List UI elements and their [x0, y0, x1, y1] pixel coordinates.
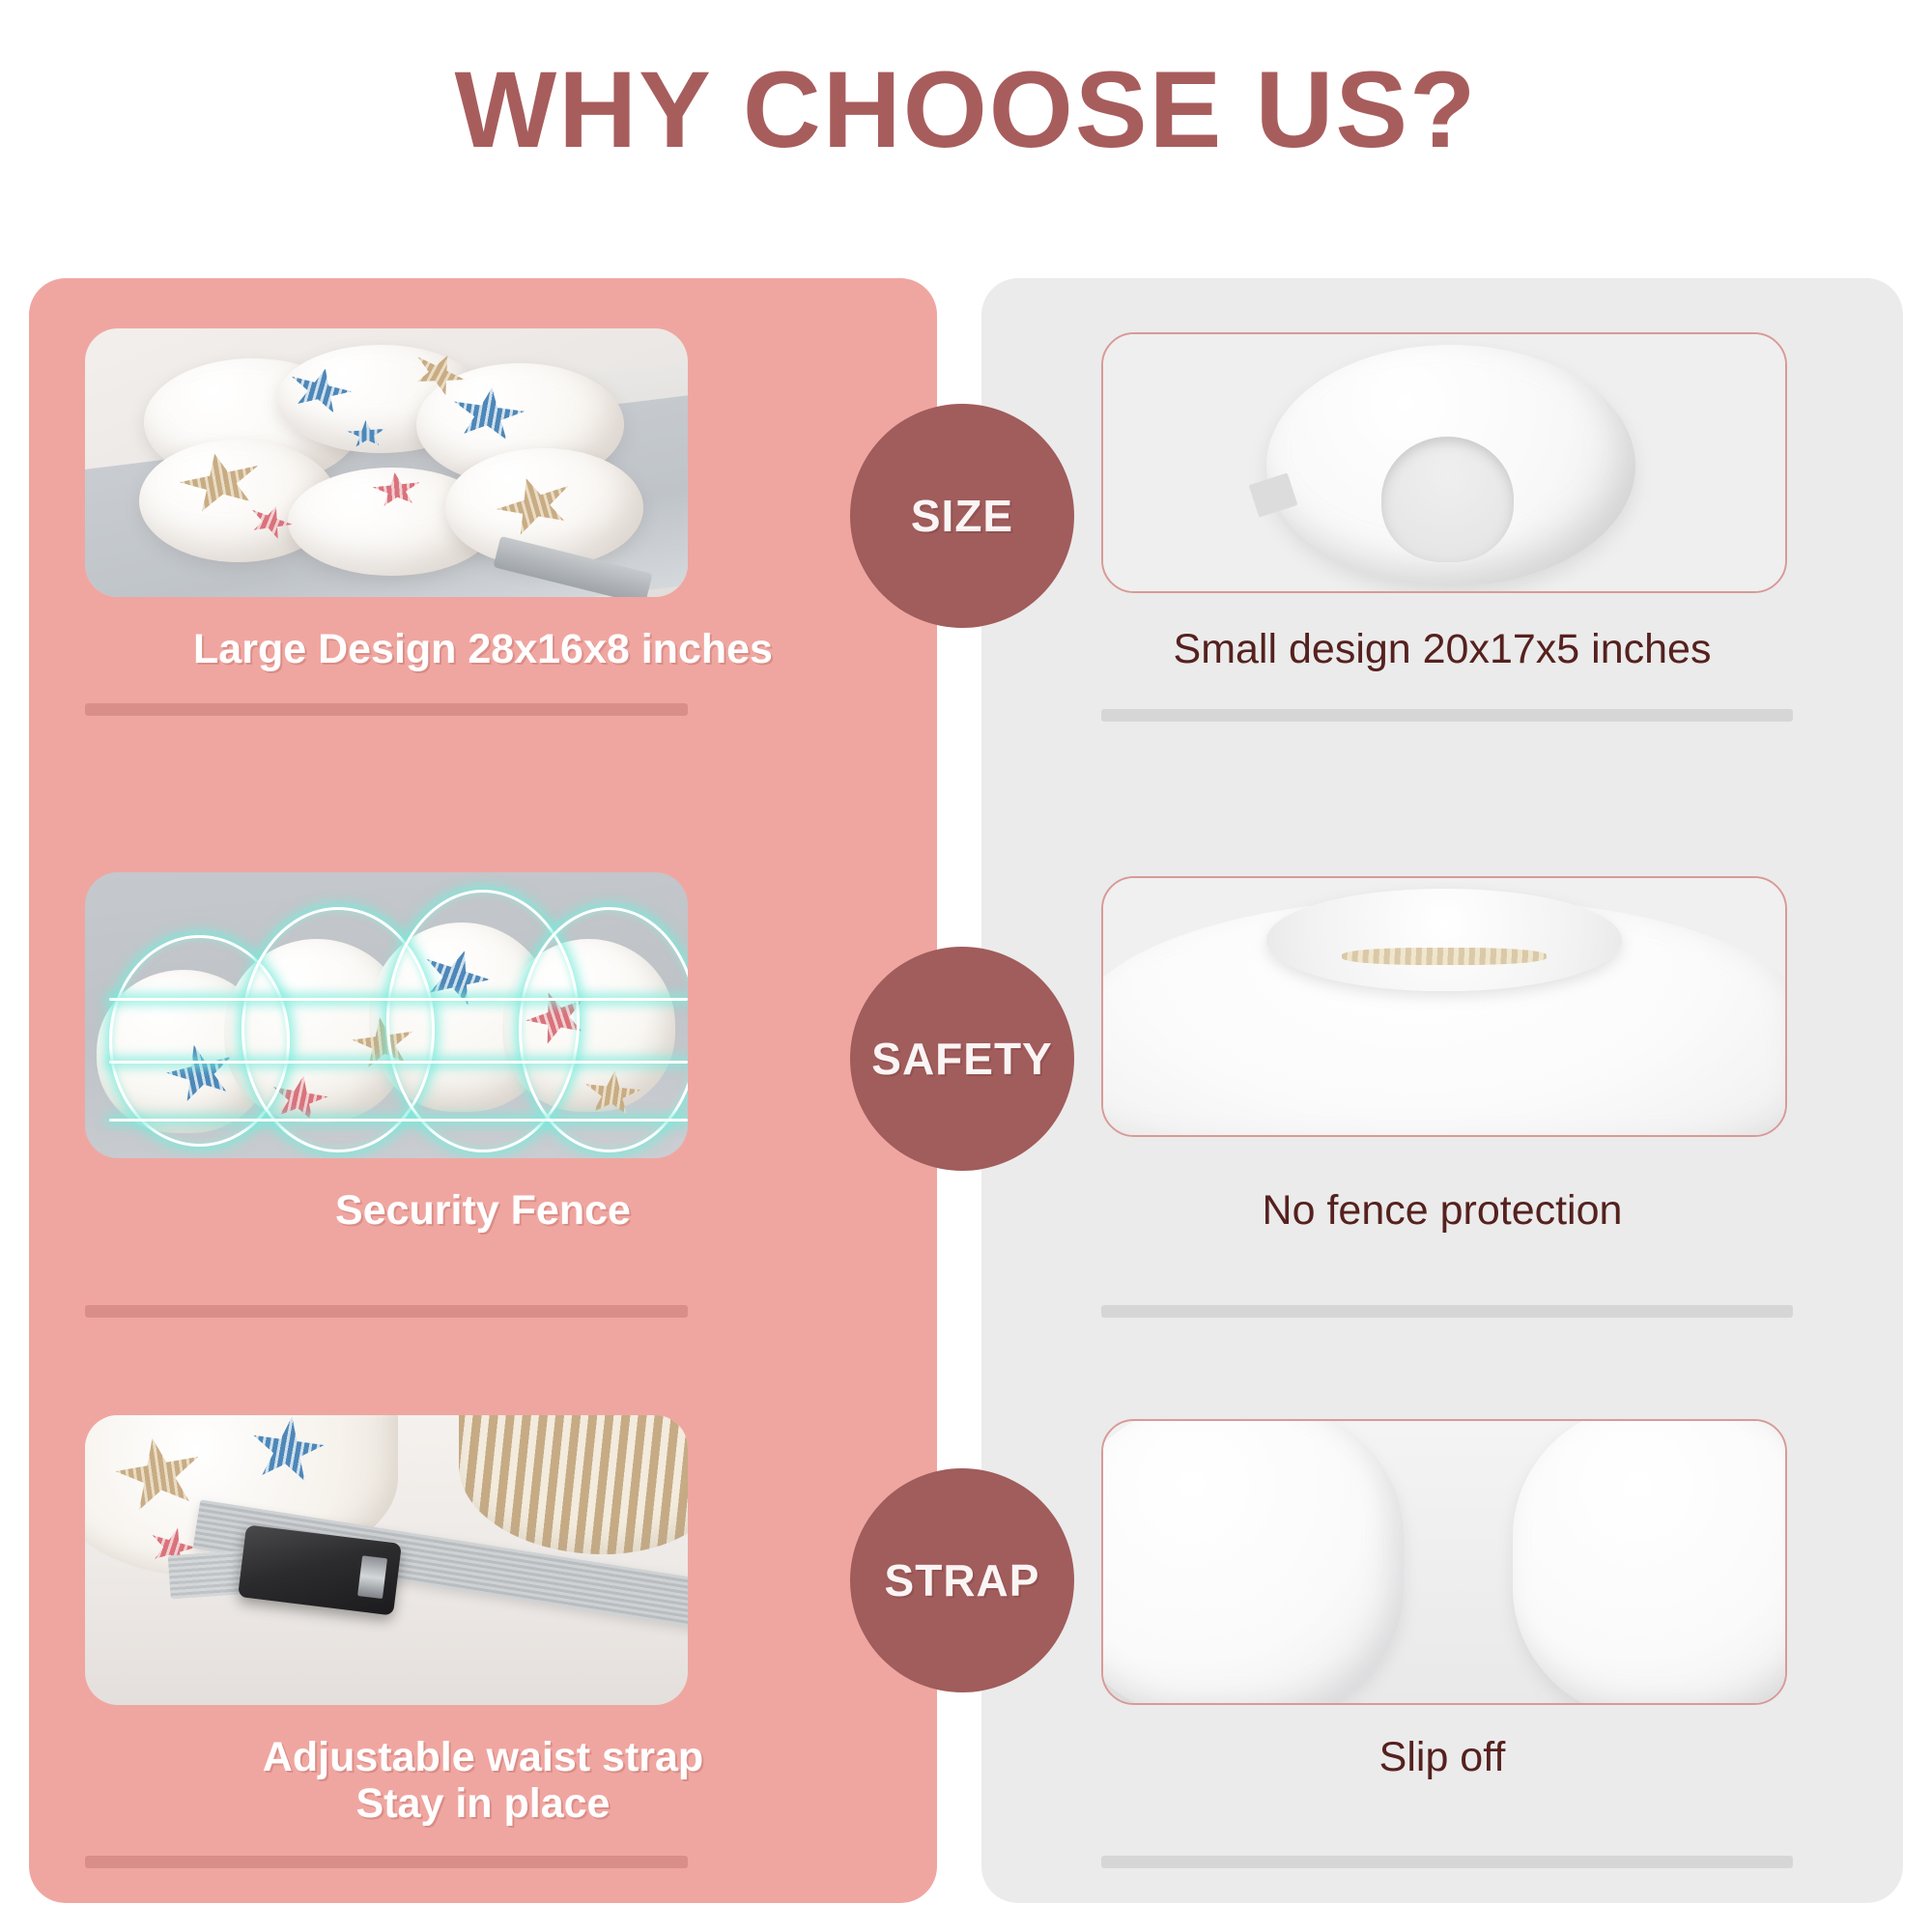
- right-caption-strap: Slip off: [981, 1734, 1903, 1780]
- infographic-page: WHY CHOOSE US?: [0, 0, 1932, 1932]
- caption-line-1: Small design 20x17x5 inches: [981, 626, 1903, 672]
- left-divider-3: [85, 1856, 688, 1868]
- caption-line-1: Large Design 28x16x8 inches: [29, 626, 937, 672]
- large-star-pillow-photo: [85, 328, 688, 597]
- caption-line-1: Adjustable waist strap: [29, 1734, 937, 1780]
- badge-size: SIZE: [850, 404, 1074, 628]
- left-caption-size: Large Design 28x16x8 inches: [29, 626, 937, 672]
- plain-white-pillow-photo: [1101, 876, 1787, 1137]
- page-title-wrap: WHY CHOOSE US?: [0, 56, 1932, 164]
- page-title: WHY CHOOSE US?: [0, 56, 1932, 164]
- left-caption-safety: Security Fence: [29, 1187, 937, 1234]
- caption-line-1: No fence protection: [981, 1187, 1903, 1234]
- right-divider-3: [1101, 1856, 1793, 1868]
- right-caption-size: Small design 20x17x5 inches: [981, 626, 1903, 672]
- left-divider-1: [85, 703, 688, 716]
- right-caption-safety: No fence protection: [981, 1187, 1903, 1234]
- badge-safety: SAFETY: [850, 947, 1074, 1171]
- badge-strap: STRAP: [850, 1468, 1074, 1692]
- left-divider-2: [85, 1305, 688, 1318]
- left-caption-strap: Adjustable waist strap Stay in place: [29, 1734, 937, 1827]
- small-white-pillow-photo: [1101, 332, 1787, 593]
- two-separated-pillows-photo: [1101, 1419, 1787, 1705]
- caption-line-2: Stay in place: [29, 1780, 937, 1827]
- left-product-panel: Large Design 28x16x8 inches: [29, 278, 937, 1903]
- security-fence-mesh-photo: [85, 872, 688, 1158]
- caption-line-1: Slip off: [981, 1734, 1903, 1780]
- right-divider-1: [1101, 709, 1793, 722]
- buckle-strap-photo: [85, 1415, 688, 1705]
- right-competitor-panel: Small design 20x17x5 inches No fence pro…: [981, 278, 1903, 1903]
- caption-line-1: Security Fence: [29, 1187, 937, 1234]
- right-divider-2: [1101, 1305, 1793, 1318]
